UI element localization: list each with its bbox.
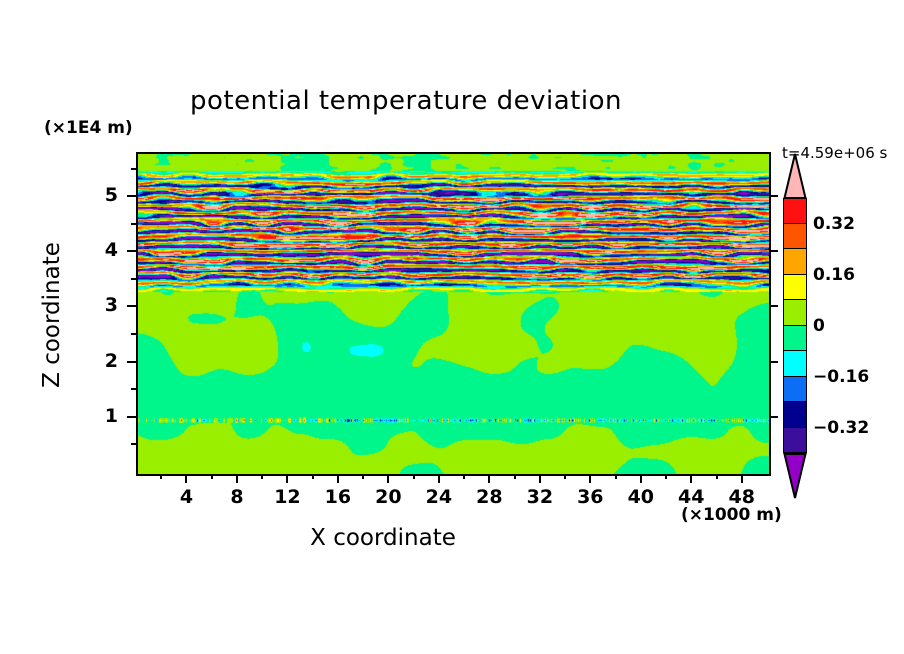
x-tick	[337, 474, 339, 483]
x-tick-minor	[716, 474, 718, 479]
x-tick-minor	[160, 474, 162, 479]
y-tick-minor	[131, 278, 136, 280]
y-tick	[127, 195, 136, 197]
colorbar-tick-label: 0.32	[813, 214, 855, 234]
x-tick-minor	[564, 474, 566, 479]
y-tick-minor	[131, 333, 136, 335]
x-tick-minor	[413, 474, 415, 479]
colorbar-tick-label: 0.16	[813, 265, 855, 285]
y-tick	[127, 250, 136, 252]
y-tick	[127, 416, 136, 418]
colorbar-band	[783, 377, 807, 403]
x-tick	[387, 474, 389, 483]
x-tick	[236, 474, 238, 483]
x-tick	[185, 474, 187, 483]
y-tick	[127, 361, 136, 363]
x-tick-label: 48	[712, 486, 772, 508]
colorbar-tick-label: −0.32	[813, 418, 869, 438]
y-tick-label: 5	[78, 184, 118, 206]
y-tick-label: 1	[78, 405, 118, 427]
x-tick	[286, 474, 288, 483]
x-tick-minor	[211, 474, 213, 479]
colorbar-tick-label: 0	[813, 316, 825, 336]
x-axis-title: X coordinate	[0, 525, 766, 551]
plot-title-text: potential temperature deviation	[190, 86, 622, 116]
x-tick-minor	[615, 474, 617, 479]
contour-field	[138, 154, 769, 474]
colorbar-cap-high	[783, 153, 807, 199]
x-tick	[438, 474, 440, 483]
colorbar-band	[783, 326, 807, 352]
x-tick	[589, 474, 591, 483]
y-tick-right	[769, 361, 778, 363]
colorbar	[783, 198, 807, 453]
colorbar-tick-label: −0.16	[813, 367, 869, 387]
y-tick-label: 3	[78, 294, 118, 316]
page-title: potential temperature deviation	[0, 86, 904, 116]
x-tick-minor	[514, 474, 516, 479]
y-tick-right	[769, 416, 778, 418]
colorbar-cap-low	[783, 453, 807, 499]
colorbar-band	[783, 198, 807, 224]
y-tick-right	[769, 250, 778, 252]
colorbar-band	[783, 249, 807, 275]
x-tick-minor	[665, 474, 667, 479]
x-tick	[741, 474, 743, 483]
z-axis-unit-label: (×1E4 m)	[44, 118, 133, 138]
x-tick	[690, 474, 692, 483]
plot-area	[136, 152, 771, 476]
x-tick	[640, 474, 642, 483]
y-tick-minor	[131, 443, 136, 445]
x-tick-minor	[362, 474, 364, 479]
colorbar-band	[783, 351, 807, 377]
x-tick-minor	[312, 474, 314, 479]
colorbar-band	[783, 224, 807, 250]
y-tick-minor	[131, 388, 136, 390]
x-tick	[539, 474, 541, 483]
y-tick-label: 2	[78, 350, 118, 372]
y-tick-minor	[131, 168, 136, 170]
y-tick-right	[769, 305, 778, 307]
contour-figure: potential temperature deviation (×1E4 m)…	[0, 0, 904, 654]
y-tick-label: 4	[78, 239, 118, 261]
y-axis-title: Z coordinate	[39, 215, 65, 415]
x-tick-minor	[463, 474, 465, 479]
colorbar-band	[783, 402, 807, 428]
colorbar-band	[783, 275, 807, 301]
y-tick	[127, 305, 136, 307]
x-axis-unit-label: (×1000 m)	[681, 505, 782, 525]
colorbar-band	[783, 300, 807, 326]
x-tick	[488, 474, 490, 483]
colorbar-band	[783, 428, 807, 454]
x-tick-minor	[261, 474, 263, 479]
y-tick-right	[769, 195, 778, 197]
y-tick-minor	[131, 223, 136, 225]
